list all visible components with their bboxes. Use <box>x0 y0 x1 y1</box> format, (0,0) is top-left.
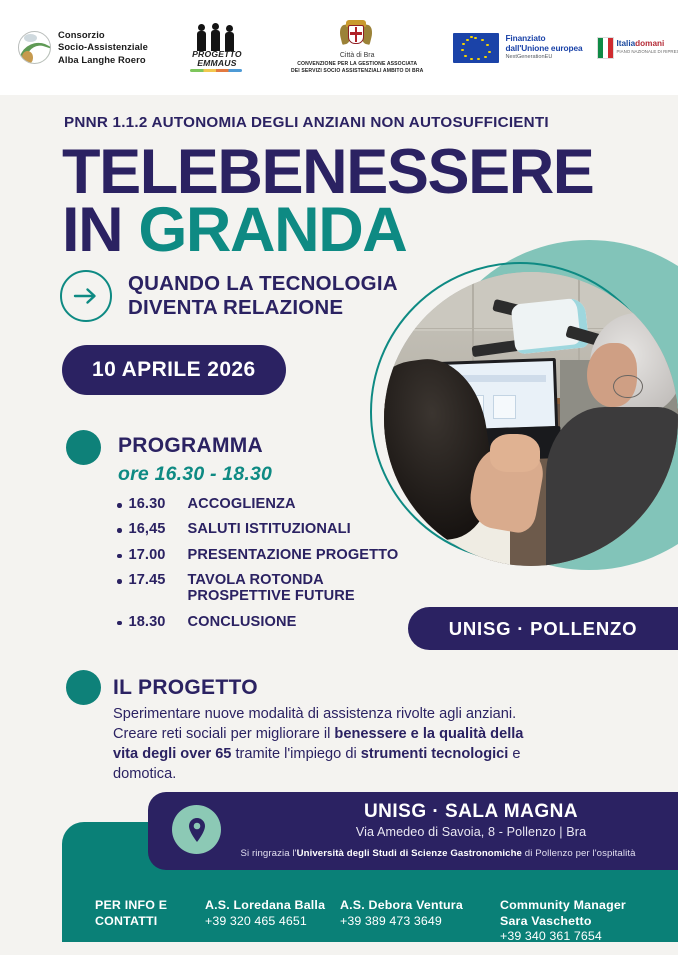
consorzio-emblem-icon <box>18 31 51 64</box>
programma-item-bullet-icon <box>117 503 122 508</box>
venue-thanks: Si ringrazia l'Università degli Studi di… <box>208 848 668 859</box>
page-kicker: PNNR 1.1.2 AUTONOMIA DEGLI ANZIANI NON A… <box>64 114 549 131</box>
consorzio-name: Consorzio Socio-Assistenziale Alba Langh… <box>58 29 148 67</box>
programma-item-label: ACCOGLIENZA <box>188 496 296 512</box>
italy-flag-icon <box>597 37 614 59</box>
event-date-badge: 10 APRILE 2026 <box>62 345 286 395</box>
photo-location-badge-label: UNISG · POLLENZO <box>449 618 638 640</box>
venue-address: Via Amedeo di Savoia, 8 - Pollenzo | Bra <box>278 825 664 839</box>
programma-item-time: 17.00 <box>129 547 181 563</box>
venue-card: UNISG · SALA MAGNA Via Amedeo di Savoia,… <box>148 792 678 870</box>
title-line-2: IN GRANDA <box>62 202 622 260</box>
logo-progetto-emmaus: PROGETTO EMMAUS <box>188 23 246 73</box>
emmaus-wordmark: PROGETTO EMMAUS <box>189 50 245 68</box>
programma-list: 16.30ACCOGLIENZA16,45SALUTI ISTITUZIONAL… <box>117 496 417 639</box>
programma-heading: PROGRAMMA <box>118 434 263 458</box>
logo-eu-nextgeneration: Finanziato dall'Unione europea NextGener… <box>453 33 582 63</box>
event-photo <box>384 272 678 566</box>
contact-name-2: CONTATTI <box>95 914 205 930</box>
programma-item-bullet-icon <box>117 579 122 584</box>
contact-column: A.S. Loredana Balla+39 320 465 4651 <box>205 898 340 929</box>
title-line-1: TELEBENESSERE <box>62 144 622 202</box>
eu-flag-icon <box>453 33 499 63</box>
progetto-heading: IL PROGETTO <box>113 676 258 700</box>
progetto-bullet-dot-icon <box>66 670 101 705</box>
programma-hours: ore 16.30 - 18.30 <box>118 463 272 486</box>
programma-item-label: TAVOLA ROTONDA PROSPETTIVE FUTURE <box>188 572 418 605</box>
contact-phone[interactable]: +39 340 361 7654 <box>500 929 675 945</box>
programma-item-bullet-icon <box>117 554 122 559</box>
venue-title: UNISG · SALA MAGNA <box>278 801 664 823</box>
logo-italiadomani: Italiadomani PIANO NAZIONALE DI RIPRESA … <box>597 37 678 59</box>
bra-crest-icon <box>339 20 373 52</box>
programma-item-label: SALUTI ISTITUZIONALI <box>188 521 351 537</box>
contact-name: PER INFO E <box>95 898 205 914</box>
contact-column: PER INFO ECONTATTI <box>95 898 205 929</box>
title-line-2-plain: IN <box>62 195 138 265</box>
contact-phone[interactable]: +39 389 473 3649 <box>340 914 500 930</box>
contact-name: A.S. Loredana Balla <box>205 898 340 914</box>
subhead-text: QUANDO LA TECNOLOGIA DIVENTA RELAZIONE <box>128 272 398 320</box>
programma-item: 17.45TAVOLA ROTONDA PROSPETTIVE FUTURE <box>117 572 417 605</box>
programma-item-label: PRESENTAZIONE PROGETTO <box>188 547 399 563</box>
programma-item-bullet-icon <box>117 528 122 533</box>
contact-column: A.S. Debora Ventura+39 389 473 3649 <box>340 898 500 929</box>
subhead-block: QUANDO LA TECNOLOGIA DIVENTA RELAZIONE <box>60 270 398 322</box>
contact-name-2: Sara Vaschetto <box>500 914 675 930</box>
photo-location-badge: UNISG · POLLENZO <box>408 607 678 650</box>
emmaus-figures-icon: PROGETTO EMMAUS <box>188 23 246 73</box>
contact-name: Community Manager <box>500 898 675 914</box>
sponsor-logo-bar: Consorzio Socio-Assistenziale Alba Langh… <box>0 0 678 95</box>
programma-item-bullet-icon <box>117 621 122 626</box>
programma-item-time: 16,45 <box>129 521 181 537</box>
arrow-right-icon <box>60 270 112 322</box>
programma-item: 18.30CONCLUSIONE <box>117 614 417 630</box>
programma-bullet-dot-icon <box>66 430 101 465</box>
programma-item: 17.00PRESENTAZIONE PROGETTO <box>117 547 417 563</box>
bra-caption: Città di Bra CONVENZIONE PER LA GESTIONE… <box>291 52 423 74</box>
contact-name: A.S. Debora Ventura <box>340 898 500 914</box>
contact-column: Community ManagerSara Vaschetto+39 340 3… <box>500 898 675 945</box>
logo-citta-di-bra: Città di Bra CONVENZIONE PER LA GESTIONE… <box>288 20 423 74</box>
programma-item: 16.30ACCOGLIENZA <box>117 496 417 512</box>
contacts-bar: PER INFO ECONTATTIA.S. Loredana Balla+39… <box>62 888 678 942</box>
programma-item-label: CONCLUSIONE <box>188 614 297 630</box>
page-title: TELEBENESSERE IN GRANDA <box>62 144 622 260</box>
italiadomani-caption: Italiadomani PIANO NAZIONALE DI RIPRESA … <box>617 40 678 54</box>
subhead-line-1: QUANDO LA TECNOLOGIA <box>128 272 398 296</box>
programma-item-time: 17.45 <box>129 572 181 588</box>
programma-item: 16,45SALUTI ISTITUZIONALI <box>117 521 417 537</box>
event-date-label: 10 APRILE 2026 <box>92 358 256 381</box>
location-pin-icon <box>172 805 221 854</box>
contact-phone[interactable]: +39 320 465 4651 <box>205 914 340 930</box>
subhead-line-2: DIVENTA RELAZIONE <box>128 296 398 320</box>
title-line-2-accent: GRANDA <box>138 195 406 265</box>
programma-item-time: 18.30 <box>129 614 181 630</box>
logo-consorzio: Consorzio Socio-Assistenziale Alba Langh… <box>18 29 148 67</box>
poster-root: Consorzio Socio-Assistenziale Alba Langh… <box>0 0 678 955</box>
progetto-body: Sperimentare nuove modalità di assistenz… <box>113 705 533 784</box>
eu-caption: Finanziato dall'Unione europea NextGener… <box>505 34 582 60</box>
programma-item-time: 16.30 <box>129 496 181 512</box>
